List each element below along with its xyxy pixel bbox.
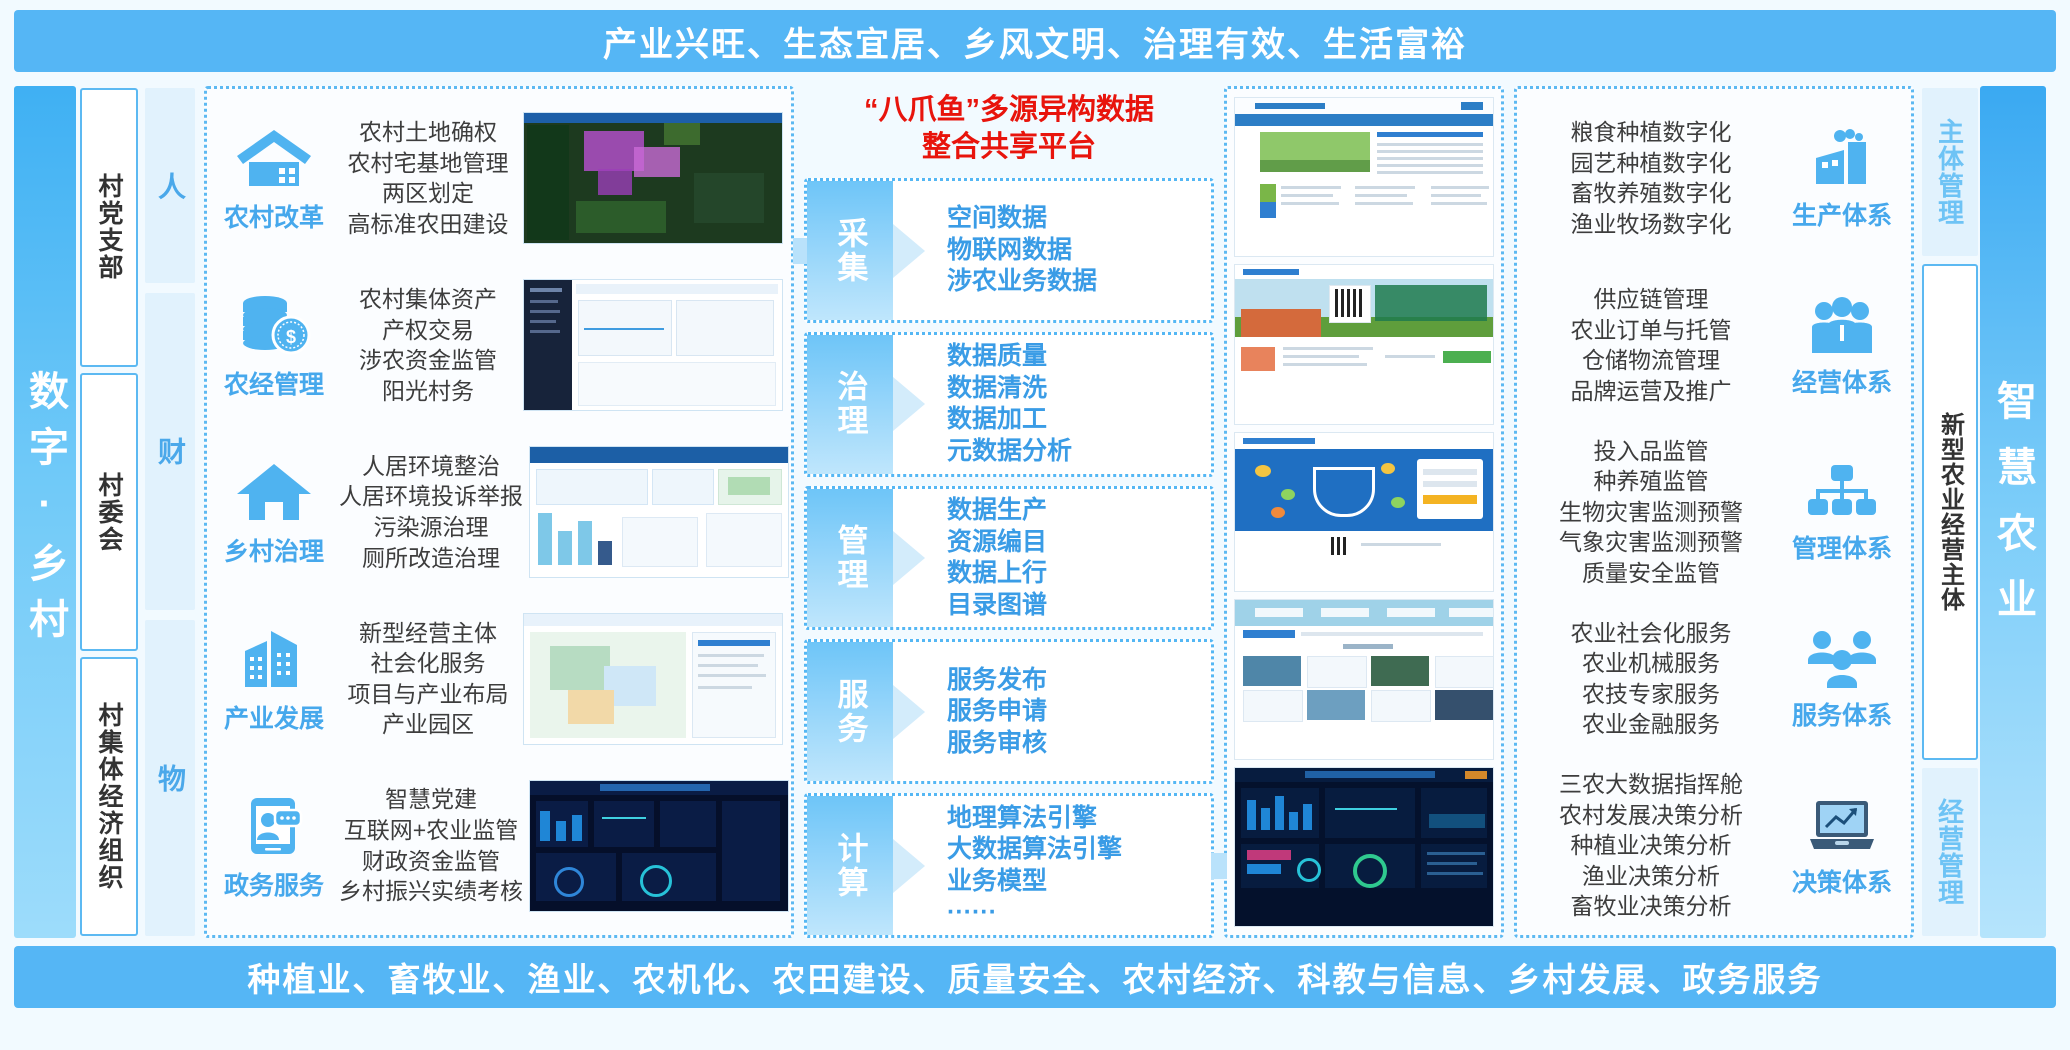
right-icon-group-3: 服务体系 (1779, 625, 1905, 732)
feature-item-4-1: 互联网+农业监管 (339, 815, 523, 846)
feature-items-3: 新型经营主体 社会化服务 项目与产业布局 产业园区 (333, 618, 523, 740)
main-content: 数字·乡村 村党支部 村委会 村集体经济组织 人 财 物 (14, 86, 2056, 938)
command-center-dark-dashboard-thumbnail[interactable] (529, 780, 789, 912)
platform-item-2-1: 资源编目 (947, 527, 1211, 559)
platform-item-3-2: 服务审核 (947, 728, 1211, 760)
feature-items-0: 农村土地确权 农村宅基地管理 两区划定 高标准农田建设 (333, 117, 523, 239)
feature-row-production-system: 粮食种植数字化 园艺种植数字化 畜牧养殖数字化 渔业牧场数字化 (1523, 102, 1905, 254)
three-persons-icon (1804, 625, 1880, 693)
right-items-4: 三农大数据指挥舱 农村发展决策分析 种植业决策分析 渔业决策分析 畜牧业决策分析 (1523, 769, 1779, 922)
feature-label-2: 乡村治理 (224, 532, 324, 568)
platform-item-4-2: 业务模型 (947, 866, 1211, 898)
right-vertical-strip: 智慧农业 (1980, 86, 2046, 938)
buildings-icon (235, 623, 313, 695)
right-item-1-1: 农业订单与托管 (1523, 315, 1779, 346)
laptop-chart-icon (1804, 792, 1880, 860)
feature-row-rural-economy: $ 农经管理 农村集体资产 产权交易 涉农资金监管 阳光村务 (215, 269, 783, 421)
platform-item-4-0: 地理算法引擎 (947, 803, 1211, 835)
right-item-3-0: 农业社会化服务 (1523, 618, 1779, 649)
right-item-3-2: 农技专家服务 (1523, 679, 1779, 710)
feature-item-4-2: 财政资金监管 (339, 846, 523, 877)
right-item-0-3: 渔业牧场数字化 (1523, 209, 1779, 240)
platform-item-3-0: 服务发布 (947, 665, 1211, 697)
svg-text:$: $ (286, 327, 296, 347)
org-label-1: 村委会 (91, 472, 127, 553)
header-title: 产业兴旺、生态宜居、乡风文明、治理有效、生活富裕 (603, 17, 1467, 66)
infographic-page: 产业兴旺、生态宜居、乡风文明、治理有效、生活富裕 数字·乡村 村党支部 村委会 … (0, 0, 2070, 1050)
feature-item-3-0: 新型经营主体 (339, 618, 517, 649)
platform-block-collect[interactable]: 采集 空间数据 物联网数据 涉农业务数据 (804, 178, 1214, 323)
feature-row-decision-system: 三农大数据指挥舱 农村发展决策分析 种植业决策分析 渔业决策分析 畜牧业决策分析 (1523, 770, 1905, 922)
feature-row-operation-system: 供应链管理 农业订单与托管 仓储物流管理 品牌运营及推广 (1523, 269, 1905, 421)
org-box-village-committee[interactable]: 村委会 (80, 373, 138, 652)
resource-box-finance: 财 (145, 293, 195, 610)
feature-item-3-1: 社会化服务 (339, 648, 517, 679)
resource-column: 人 财 物 (142, 86, 198, 938)
platform-block-compute[interactable]: 计算 地理算法引擎 大数据算法引擎 业务模型 ······ (804, 793, 1214, 938)
feature-icon-group-2: 乡村治理 (215, 456, 333, 568)
feature-item-1-2: 涉农资金监管 (339, 345, 517, 376)
feature-items-4: 智慧党建 互联网+农业监管 财政资金监管 乡村振兴实绩考核 (333, 784, 529, 906)
feature-item-0-3: 高标准农田建设 (339, 209, 517, 240)
right-item-1-2: 仓储物流管理 (1523, 345, 1779, 376)
right-icon-group-1: 经营体系 (1779, 292, 1905, 399)
right-label-4: 决策体系 (1792, 863, 1892, 899)
industry-distribution-map-thumbnail[interactable] (523, 613, 783, 745)
food-safety-login-page-thumbnail[interactable] (1234, 432, 1494, 592)
mgmt-label-bottom: 经营管理 (1932, 798, 1969, 906)
right-items-1: 供应链管理 农业订单与托管 仓储物流管理 品牌运营及推广 (1523, 284, 1779, 406)
platform-item-2-3: 目录图谱 (947, 590, 1211, 622)
arrow-icon-1 (893, 377, 925, 431)
right-label-2: 管理体系 (1792, 529, 1892, 565)
feature-item-4-0: 智慧党建 (339, 784, 523, 815)
right-item-3-1: 农业机械服务 (1523, 648, 1779, 679)
right-items-3: 农业社会化服务 农业机械服务 农技专家服务 农业金融服务 (1523, 618, 1779, 740)
feature-row-rural-governance: 乡村治理 人居环境整治 人居环境投诉举报 污染源治理 厕所改造治理 (215, 436, 783, 588)
mgmt-label-top: 主体管理 (1932, 118, 1969, 226)
feature-label-4: 政务服务 (224, 866, 324, 902)
right-item-4-4: 畜牧业决策分析 (1523, 891, 1779, 922)
home-roof-icon (235, 122, 313, 194)
feature-label-1: 农经管理 (224, 365, 324, 401)
feature-row-government-service: 政务服务 智慧党建 互联网+农业监管 财政资金监管 乡村振兴实绩考核 (215, 770, 783, 922)
org-label-2: 村集体经济组织 (91, 702, 127, 891)
right-connector-stub-4 (1211, 853, 1227, 879)
platform-title-line2: 整合共享平台 (804, 129, 1214, 166)
service-catalog-portal-thumbnail[interactable] (1234, 599, 1494, 759)
footer-title: 种植业、畜牧业、渔业、农机化、农田建设、质量安全、农村经济、科教与信息、乡村发展… (248, 953, 1823, 1001)
feature-label-0: 农村改革 (224, 198, 324, 234)
platform-block-manage[interactable]: 管理 数据生产 资源编目 数据上行 目录图谱 (804, 486, 1214, 631)
right-item-1-0: 供应链管理 (1523, 284, 1779, 315)
feature-items-1: 农村集体资产 产权交易 涉农资金监管 阳光村务 (333, 284, 523, 406)
feature-row-industry-development: 产业发展 新型经营主体 社会化服务 项目与产业布局 产业园区 (215, 603, 783, 755)
feature-item-1-0: 农村集体资产 (339, 284, 517, 315)
feature-item-0-0: 农村土地确权 (339, 117, 517, 148)
platform-item-4-3: ······ (947, 897, 1211, 929)
asset-management-dashboard-thumbnail[interactable] (523, 279, 783, 411)
right-item-2-3: 气象灾害监测预警 (1523, 527, 1779, 558)
platform-stage-label-4: 计算 (807, 796, 893, 935)
platform-item-1-3: 元数据分析 (947, 436, 1211, 468)
org-label-0: 村党支部 (91, 173, 127, 281)
management-column: 主体管理 新型农业经营主体 经营管理 (1920, 86, 1980, 938)
people-group-icon (1804, 292, 1880, 360)
right-feature-panel: 粮食种植数字化 园艺种植数字化 畜牧养殖数字化 渔业牧场数字化 (1514, 86, 1914, 938)
feature-item-0-2: 两区划定 (339, 178, 517, 209)
platform-item-1-2: 数据加工 (947, 404, 1211, 436)
arrow-icon-3 (893, 685, 925, 739)
right-icon-group-2: 管理体系 (1779, 458, 1905, 565)
big-data-command-dashboard-thumbnail[interactable] (1234, 767, 1494, 927)
platform-item-2-0: 数据生产 (947, 495, 1211, 527)
right-item-2-4: 质量安全监管 (1523, 558, 1779, 589)
feature-icon-group-1: $ 农经管理 (215, 289, 333, 401)
platform-block-service[interactable]: 服务 服务发布 服务申请 服务审核 (804, 639, 1214, 784)
factory-icon (1804, 125, 1880, 193)
header-banner: 产业兴旺、生态宜居、乡风文明、治理有效、生活富裕 (14, 10, 2056, 72)
footer-banner: 种植业、畜牧业、渔业、农机化、农田建设、质量安全、农村经济、科教与信息、乡村发展… (14, 946, 2056, 1008)
agri-information-portal-thumbnail[interactable] (1234, 97, 1494, 257)
resource-label-2: 物 (150, 764, 190, 792)
feature-item-4-3: 乡村振兴实绩考核 (339, 876, 523, 907)
resource-label-1: 财 (150, 437, 190, 465)
right-item-2-1: 种养殖监管 (1523, 466, 1779, 497)
feature-items-2: 人居环境整治 人居环境投诉举报 污染源治理 厕所改造治理 (333, 451, 529, 573)
right-icon-group-0: 生产体系 (1779, 125, 1905, 232)
platform-items-4: 地理算法引擎 大数据算法引擎 业务模型 ······ (925, 796, 1211, 935)
org-box-collective-economy[interactable]: 村集体经济组织 (80, 657, 138, 936)
left-feature-panel: 农村改革 农村土地确权 农村宅基地管理 两区划定 高标准农田建设 (204, 86, 794, 938)
right-item-4-3: 渔业决策分析 (1523, 861, 1779, 892)
mgmt-label-middle: 新型农业经营主体 (1933, 412, 1968, 612)
platform-item-0-2: 涉农业务数据 (947, 266, 1211, 298)
mgmt-box-subject-management: 主体管理 (1922, 88, 1978, 256)
satellite-farmland-map-thumbnail[interactable] (523, 112, 783, 244)
feature-item-2-0: 人居环境整治 (339, 451, 523, 482)
platform-stage-stack: 采集 空间数据 物联网数据 涉农业务数据 治理 数据质量 (804, 178, 1214, 938)
feature-icon-group-3: 产业发展 (215, 623, 333, 735)
stage-text-4: 计算 (828, 832, 873, 900)
traceability-qrcode-platform-thumbnail[interactable] (1234, 264, 1494, 424)
platform-item-2-2: 数据上行 (947, 558, 1211, 590)
coins-dollar-icon: $ (235, 289, 313, 361)
right-item-4-2: 种植业决策分析 (1523, 830, 1779, 861)
platform-item-0-0: 空间数据 (947, 203, 1211, 235)
platform-stage-label-1: 治理 (807, 335, 893, 474)
right-item-1-3: 品牌运营及推广 (1523, 376, 1779, 407)
platform-title-line1: “八爪鱼”多源异构数据 (804, 92, 1214, 129)
platform-items-3: 服务发布 服务申请 服务审核 (925, 642, 1211, 781)
right-item-2-2: 生物灾害监测预警 (1523, 497, 1779, 528)
feature-row-service-system: 农业社会化服务 农业机械服务 农技专家服务 农业金融服务 (1523, 603, 1905, 755)
platform-items-1: 数据质量 数据清洗 数据加工 元数据分析 (925, 335, 1211, 474)
right-icon-group-4: 决策体系 (1779, 792, 1905, 899)
feature-item-3-3: 产业园区 (339, 709, 517, 740)
mgmt-box-new-agri-entity[interactable]: 新型农业经营主体 (1922, 264, 1978, 760)
stage-text-3: 服务 (828, 678, 873, 746)
arrow-icon-4 (893, 839, 925, 893)
right-item-4-1: 农村发展决策分析 (1523, 800, 1779, 831)
stage-text-0: 采集 (828, 217, 873, 285)
right-strip-label: 智慧农业 (1984, 380, 2042, 644)
right-items-2: 投入品监管 种养殖监管 生物灾害监测预警 气象灾害监测预警 质量安全监管 (1523, 436, 1779, 589)
platform-item-1-0: 数据质量 (947, 341, 1211, 373)
screenshot-panel (1224, 86, 1504, 938)
right-item-0-2: 畜牧养殖数字化 (1523, 178, 1779, 209)
feature-label-3: 产业发展 (224, 699, 324, 735)
right-items-0: 粮食种植数字化 园艺种植数字化 畜牧养殖数字化 渔业牧场数字化 (1523, 117, 1779, 239)
house-icon (235, 456, 313, 528)
org-chart-icon (1804, 458, 1880, 526)
feature-icon-group-0: 农村改革 (215, 122, 333, 234)
platform-item-1-1: 数据清洗 (947, 373, 1211, 405)
left-strip-label: 数字·乡村 (16, 370, 74, 654)
left-vertical-strip: 数字·乡村 (14, 86, 76, 938)
stage-text-2: 管理 (828, 524, 873, 592)
mgmt-box-operation-management: 经营管理 (1922, 768, 1978, 936)
right-item-0-1: 园艺种植数字化 (1523, 148, 1779, 179)
stage-text-1: 治理 (828, 370, 873, 438)
center-platform-column: “八爪鱼”多源异构数据 整合共享平台 采集 空间数据 物联网数据 涉农业务数据 (804, 86, 1214, 938)
feature-item-3-2: 项目与产业布局 (339, 679, 517, 710)
right-item-4-0: 三农大数据指挥舱 (1523, 769, 1779, 800)
org-column: 村党支部 村委会 村集体经济组织 (76, 86, 142, 938)
arrow-icon-0 (893, 224, 925, 278)
right-item-3-3: 农业金融服务 (1523, 709, 1779, 740)
mobile-service-icon (235, 790, 313, 862)
feature-item-0-1: 农村宅基地管理 (339, 148, 517, 179)
right-label-1: 经营体系 (1792, 363, 1892, 399)
platform-item-0-1: 物联网数据 (947, 235, 1211, 267)
org-box-party-branch[interactable]: 村党支部 (80, 88, 138, 367)
platform-block-govern[interactable]: 治理 数据质量 数据清洗 数据加工 元数据分析 (804, 332, 1214, 477)
platform-stage-label-2: 管理 (807, 489, 893, 628)
feature-icon-group-4: 政务服务 (215, 790, 333, 902)
platform-stage-label-3: 服务 (807, 642, 893, 781)
right-label-0: 生产体系 (1792, 196, 1892, 232)
arrow-icon-2 (893, 531, 925, 585)
platform-item-4-1: 大数据算法引擎 (947, 834, 1211, 866)
right-item-2-0: 投入品监管 (1523, 436, 1779, 467)
governance-statistics-dashboard-thumbnail[interactable] (529, 446, 789, 578)
feature-item-2-1: 人居环境投诉举报 (339, 481, 523, 512)
platform-items-2: 数据生产 资源编目 数据上行 目录图谱 (925, 489, 1211, 628)
resource-box-materials: 物 (145, 620, 195, 937)
resource-box-people: 人 (145, 88, 195, 283)
platform-items-0: 空间数据 物联网数据 涉农业务数据 (925, 181, 1211, 320)
right-item-0-0: 粮食种植数字化 (1523, 117, 1779, 148)
feature-item-1-3: 阳光村务 (339, 376, 517, 407)
right-label-3: 服务体系 (1792, 696, 1892, 732)
platform-stage-label-0: 采集 (807, 181, 893, 320)
feature-item-2-3: 厕所改造治理 (339, 543, 523, 574)
resource-label-0: 人 (150, 172, 190, 200)
platform-item-3-1: 服务申请 (947, 696, 1211, 728)
platform-title: “八爪鱼”多源异构数据 整合共享平台 (804, 86, 1214, 178)
feature-item-1-1: 产权交易 (339, 315, 517, 346)
feature-item-2-2: 污染源治理 (339, 512, 523, 543)
feature-row-rural-reform: 农村改革 农村土地确权 农村宅基地管理 两区划定 高标准农田建设 (215, 102, 783, 254)
feature-row-management-system: 投入品监管 种养殖监管 生物灾害监测预警 气象灾害监测预警 质量安全监管 (1523, 436, 1905, 588)
